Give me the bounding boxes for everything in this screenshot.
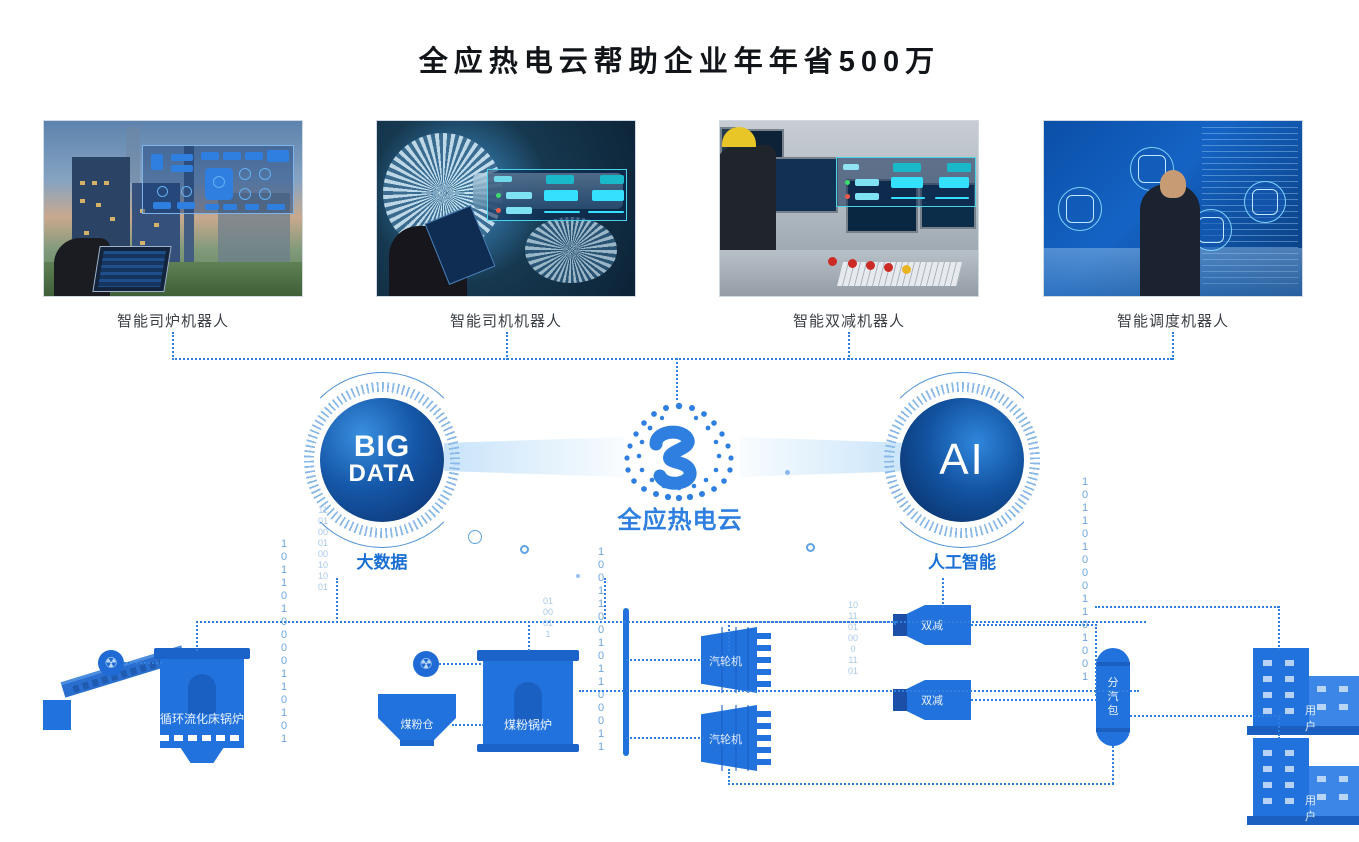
wire-user-lower-up (1278, 715, 1280, 739)
building-tall (1253, 738, 1309, 816)
connector-card2-down (506, 332, 508, 360)
cfb-boiler-ash-funnel (176, 741, 228, 763)
connector-card4-down (1172, 332, 1174, 360)
wire-valve-upper-out (971, 624, 1097, 626)
beam-bigdata-to-cloud (444, 437, 624, 477)
steam-turbine-lower[interactable]: 汽轮机 (701, 705, 775, 771)
label-drum-char-3: 包 (1108, 704, 1119, 718)
executive-silhouette (1140, 184, 1200, 296)
bigdata-orb[interactable]: BIG DATA (320, 398, 444, 522)
ai-orb[interactable]: AI (900, 398, 1024, 522)
laptop-device (92, 246, 171, 292)
label-turbine-upper: 汽轮机 (709, 653, 742, 669)
label-drum-char-1: 分 (1108, 676, 1119, 690)
wire-user-upper-down (1278, 606, 1280, 650)
binary-column-ai-inner: 1011010001101 (848, 600, 858, 677)
caption-driver-robot: 智能司机机器人 (376, 310, 636, 331)
connector-card-bus (172, 358, 1172, 360)
bunker-top (378, 694, 456, 718)
deco-circle (806, 543, 815, 552)
cfb-boiler-grate (160, 735, 244, 741)
binary-column-ai-outer: 1011010001101001 (1080, 476, 1090, 684)
wire-turbine-upper-up (728, 621, 730, 639)
wire-pc-to-header (579, 690, 1139, 692)
wire-ai-down (942, 578, 944, 608)
sensor-icon[interactable]: ☢ (98, 650, 124, 676)
connector-card3-down (848, 332, 850, 360)
wire-valve-upper-down (1095, 624, 1097, 696)
steam-distribution-header[interactable]: 分 汽 包 (1096, 648, 1130, 746)
building-base (1247, 816, 1359, 825)
deco-dot (785, 470, 790, 475)
chart-search-icon (1058, 187, 1102, 231)
wire-bigdata-down (336, 578, 338, 623)
head-shape (1160, 170, 1186, 198)
wire-valve-upper-feed (894, 621, 896, 625)
card-image-dual-reduction-robot[interactable] (719, 120, 979, 297)
turbine-blades-rear (525, 217, 617, 283)
label-coal-bunker: 煤粉仓 (378, 716, 456, 732)
connector-card1-down (172, 332, 174, 360)
wire-users-feed (1095, 606, 1279, 608)
wire-bottom-to-drum (1112, 746, 1114, 784)
scene-power-plant-dusk (44, 121, 302, 296)
label-pc-boiler: 煤粉锅炉 (483, 716, 573, 733)
pulverized-coal-boiler[interactable]: 煤粉锅炉 (483, 650, 573, 750)
desk-monitor (768, 157, 838, 213)
wire-turbine-upper-to-valve (728, 621, 896, 623)
wire-bunker-to-pc (452, 724, 484, 726)
dual-reduction-valve-upper[interactable]: 双减 (893, 605, 971, 645)
bunker-outlet (400, 740, 434, 746)
label-turbine-lower: 汽轮机 (709, 731, 742, 747)
wire-cloud-down (604, 578, 606, 623)
scene-control-room (720, 121, 978, 296)
label-user-lower: 用户 (1305, 792, 1316, 824)
sensor-icon[interactable]: ☢ (413, 651, 439, 677)
ai-label: 人工智能 (882, 548, 1042, 573)
label-cfb-boiler: 循环流化床锅炉 (160, 710, 244, 727)
building-short (1309, 766, 1359, 816)
wire-sensor-to-cfb (124, 662, 162, 664)
building-base (1247, 726, 1359, 735)
monitor-chart-icon (1244, 181, 1286, 223)
boiler-cap (154, 648, 250, 659)
label-valve-upper: 双减 (921, 617, 943, 633)
wire-valve-lower-out (971, 699, 1097, 701)
label-valve-lower: 双减 (921, 692, 943, 708)
scene-ai-dashboard (1044, 121, 1302, 296)
valve-stub (893, 614, 909, 636)
connector-bus-to-cloud (676, 358, 678, 400)
coal-conveyor (43, 668, 169, 734)
wire-drum-to-user-lower (1130, 715, 1280, 717)
deco-circle (468, 530, 482, 544)
bigdata-line1: BIG (354, 433, 410, 461)
scene-steam-turbine (377, 121, 635, 296)
hud-boiler-control-overlay (142, 145, 294, 214)
card-image-scheduling-robot[interactable] (1043, 120, 1303, 297)
card-image-driver-robot[interactable] (376, 120, 636, 297)
caption-dual-reduction-robot: 智能双减机器人 (719, 310, 979, 331)
ai-text: AI (939, 435, 985, 485)
deco-dot (576, 574, 580, 578)
circulating-fluidized-bed-boiler[interactable]: 循环流化床锅炉 (160, 648, 244, 748)
infographic-canvas: 全应热电云帮助企业年年省500万 (0, 0, 1359, 842)
bigdata-line2: DATA (348, 461, 415, 487)
binary-column-bd-left: 1011010000110101 (279, 538, 289, 746)
wire-header-to-turbine-lower (626, 737, 704, 739)
hud-valve-percent-overlay (836, 157, 976, 207)
caption-boiler-robot: 智能司炉机器人 (43, 310, 303, 331)
wire-to-cfb (196, 621, 198, 651)
deco-circle (520, 545, 529, 554)
steam-header-pipe (623, 608, 629, 756)
label-user-upper: 用户 (1305, 702, 1316, 734)
building-short (1309, 676, 1359, 726)
boiler-furnace-arch (188, 674, 216, 714)
card-image-boiler-robot[interactable] (43, 120, 303, 297)
dual-reduction-valve-lower[interactable]: 双减 (893, 680, 971, 720)
page-title: 全应热电云帮助企业年年省500万 (0, 38, 1359, 80)
cloud-brand-name: 全应热电云 (590, 500, 770, 535)
binary-column-mid-left: 0100011 (543, 596, 553, 640)
binary-column-bd-right: 1101000100101001 (318, 505, 328, 593)
wire-sensor-to-pc (439, 663, 485, 665)
valve-stub (893, 689, 909, 711)
operator-silhouette (719, 145, 776, 265)
wire-bus-upper (196, 621, 1146, 623)
boiler-cap (477, 650, 579, 661)
pc-boiler-base (477, 744, 579, 752)
steam-turbine-upper[interactable]: 汽轮机 (701, 627, 775, 693)
hud-turbine-metrics-overlay (487, 169, 627, 221)
caption-scheduling-robot: 智能调度机器人 (1043, 310, 1303, 331)
pulverized-coal-bunker[interactable]: 煤粉仓 (378, 694, 456, 746)
wire-to-pc-boiler (528, 621, 530, 651)
wire-header-to-turbine-upper (626, 659, 704, 661)
wire-turbine-lower-bottom (728, 783, 1114, 785)
conveyor-hopper (43, 700, 71, 730)
label-drum-char-2: 汽 (1108, 690, 1119, 704)
